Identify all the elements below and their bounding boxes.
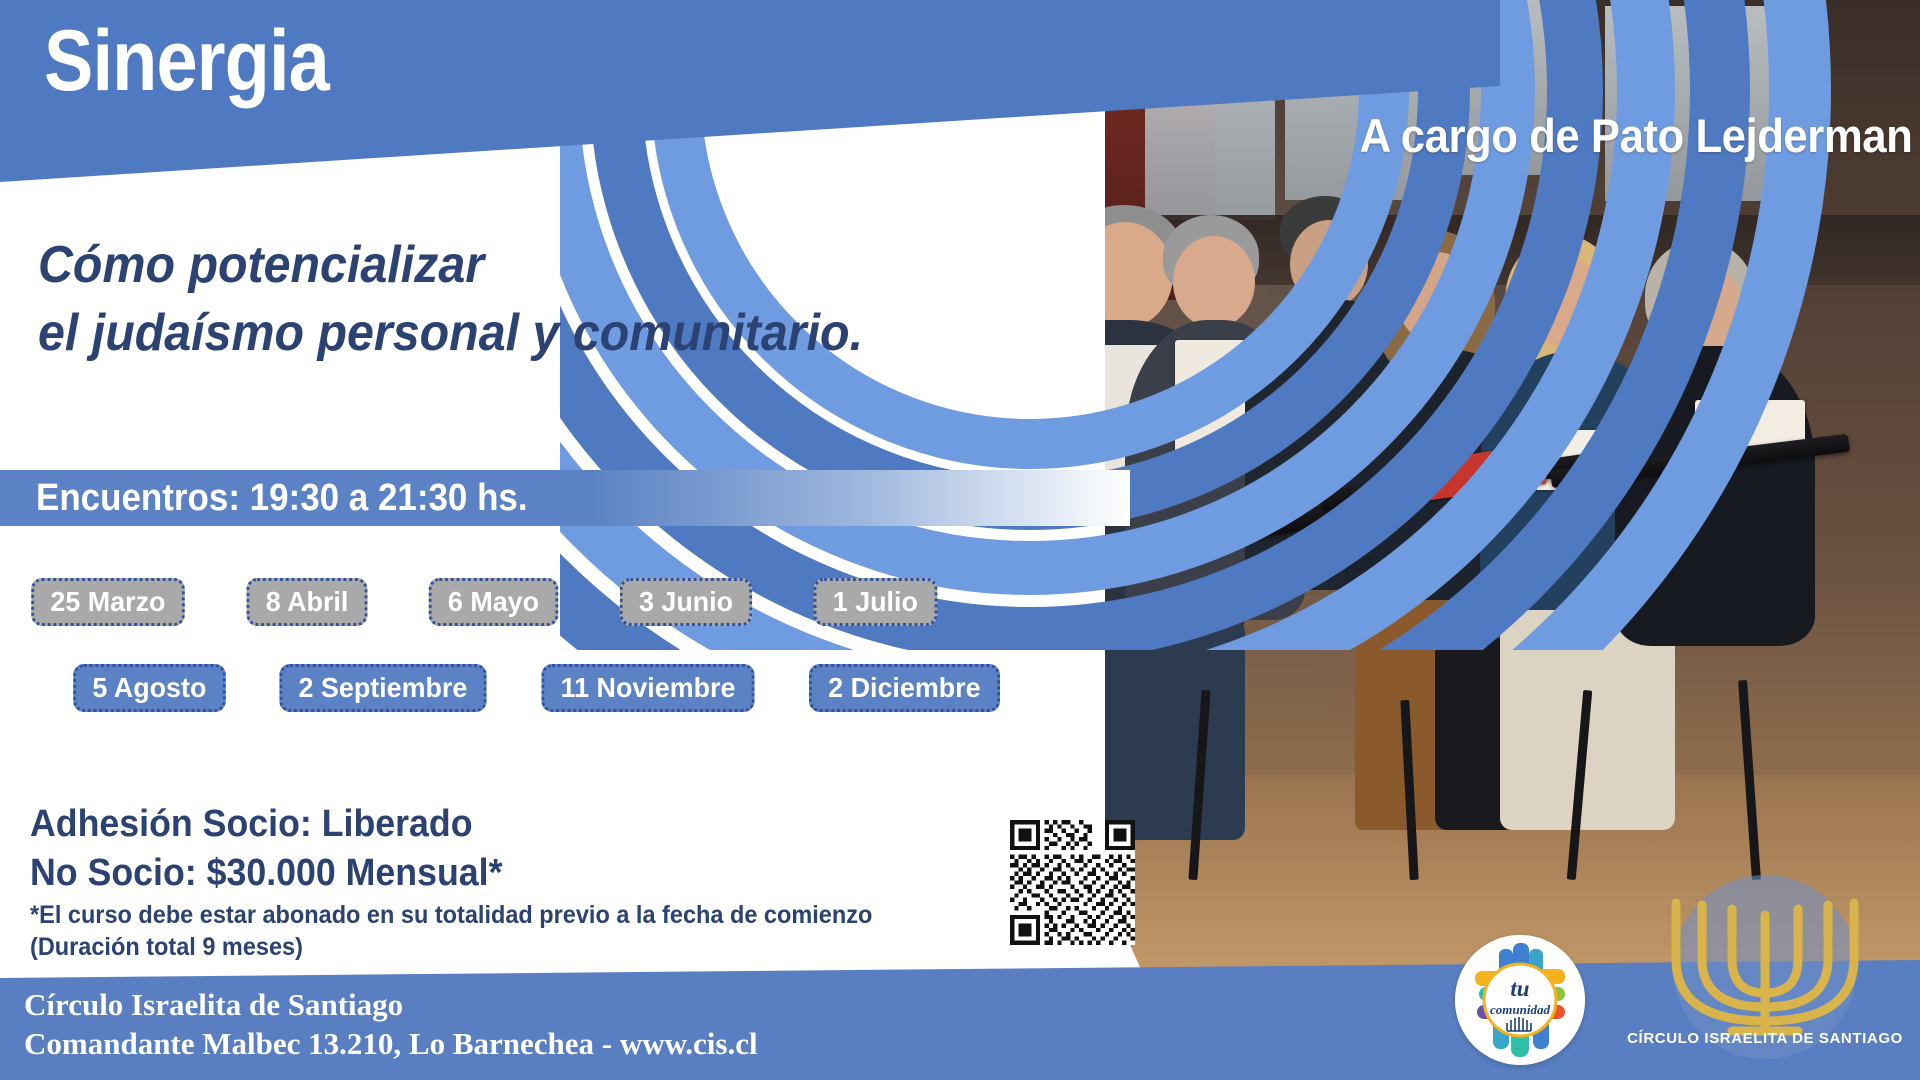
price-non-member: No Socio: $30.000 Mensual* bbox=[30, 849, 872, 898]
date-pill[interactable]: 5 Agosto bbox=[73, 664, 225, 712]
price-note-2: (Duración total 9 meses) bbox=[30, 931, 872, 964]
date-pill[interactable]: 8 Abril bbox=[246, 578, 367, 626]
tu-comunidad-logo: tu comunidad bbox=[1455, 935, 1585, 1065]
footer-address: Comandante Malbec 13.210, Lo Barnechea -… bbox=[24, 1024, 758, 1064]
date-pill[interactable]: 1 Julio bbox=[813, 578, 937, 626]
cis-logo-caption: CÍRCULO ISRAELITA DE SANTIAGO bbox=[1620, 1030, 1910, 1047]
flyer-canvas: Sinergia A cargo de Pato Lejderman Cómo … bbox=[0, 0, 1920, 1080]
date-pill[interactable]: 2 Diciembre bbox=[809, 664, 1000, 712]
price-note-1: *El curso debe estar abonado en su total… bbox=[30, 899, 872, 932]
tu-logo-word-bottom: comunidad bbox=[1490, 1002, 1550, 1017]
date-pill[interactable]: 3 Junio bbox=[620, 578, 752, 626]
price-member: Adhesión Socio: Liberado bbox=[30, 800, 872, 849]
qr-code[interactable] bbox=[1010, 820, 1135, 945]
date-pill[interactable]: 25 Marzo bbox=[31, 578, 184, 626]
date-pill[interactable]: 11 Noviembre bbox=[541, 664, 754, 712]
date-row-2: 5 Agosto2 Septiembre11 Noviembre2 Diciem… bbox=[70, 664, 1003, 712]
page-title: Sinergia bbox=[44, 18, 329, 104]
date-pill[interactable]: 6 Mayo bbox=[429, 578, 559, 626]
date-row-1: 25 Marzo8 Abril6 Mayo3 Junio1 Julio bbox=[28, 578, 940, 626]
tu-logo-word-top: tu bbox=[1510, 976, 1529, 1001]
date-pill[interactable]: 2 Septiembre bbox=[279, 664, 486, 712]
headline-line-1: Cómo potencializar bbox=[38, 232, 863, 300]
headline: Cómo potencializar el judaísmo personal … bbox=[38, 232, 863, 367]
pricing-block: Adhesión Socio: Liberado No Socio: $30.0… bbox=[30, 800, 872, 964]
footer-org: Círculo Israelita de Santiago bbox=[24, 985, 758, 1025]
presenter-label: A cargo de Pato Lejderman bbox=[1359, 112, 1912, 159]
headline-line-2: el judaísmo personal y comunitario. bbox=[38, 300, 863, 368]
footer-contact: Círculo Israelita de Santiago Comandante… bbox=[24, 985, 758, 1064]
schedule-text: Encuentros: 19:30 a 21:30 hs. bbox=[36, 478, 528, 518]
